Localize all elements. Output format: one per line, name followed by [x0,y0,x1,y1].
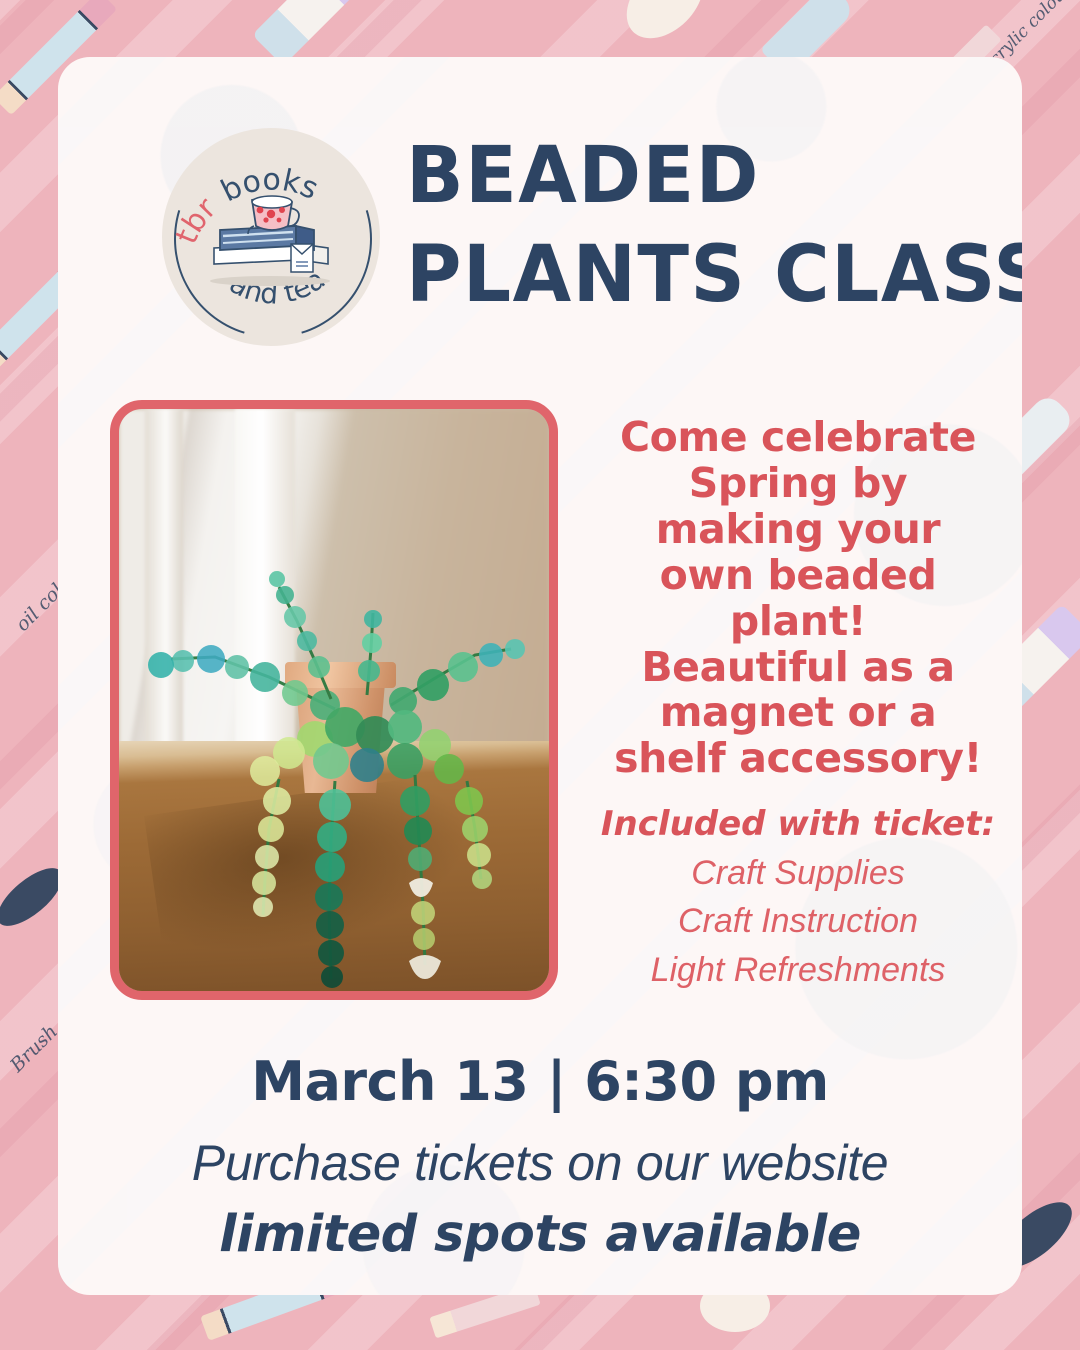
copy-line: Beautiful as a [588,645,1008,691]
included-item: Craft Instruction [588,897,1008,945]
included-item: Light Refreshments [588,946,1008,994]
event-date-time: March 13 | 6:30 pm [58,1052,1022,1111]
copy-line: Spring by [588,461,1008,507]
copy-line: shelf accessory! [588,736,1008,782]
footer: March 13 | 6:30 pm Purchase tickets on o… [58,1052,1022,1263]
included-heading: Included with ticket: [588,804,1008,845]
copy-line: magnet or a [588,690,1008,736]
beaded-plant-photo [110,400,558,1000]
purchase-instruction: Purchase tickets on our website [58,1135,1022,1191]
copy-line: own beaded [588,553,1008,599]
header: tbr books and tea [58,57,1022,357]
title-line-1: BEADED [406,139,973,214]
copy-line: making your [588,507,1008,553]
stacked-books-with-teacup-icon [196,186,346,290]
page-title: BEADED PLANTS CLASS [406,139,991,313]
copy-line: Come celebrate [588,415,1008,461]
photo-inner [119,409,549,991]
photo-beaded-plant-overlay [119,409,558,1000]
logo-badge: tbr books and tea [162,128,380,346]
poster-root: oil colour Brush cleaner acrylic colour [0,0,1080,1350]
title-line-2: PLANTS CLASS [406,238,973,313]
blob-doodle-icon [612,0,718,53]
flyer-card: tbr books and tea [58,57,1022,1295]
included-item: Craft Supplies [588,849,1008,897]
promo-copy: Come celebrate Spring by making your own… [588,415,1008,994]
copy-line: plant! [588,599,1008,645]
limited-spots-note: limited spots available [58,1207,1022,1263]
